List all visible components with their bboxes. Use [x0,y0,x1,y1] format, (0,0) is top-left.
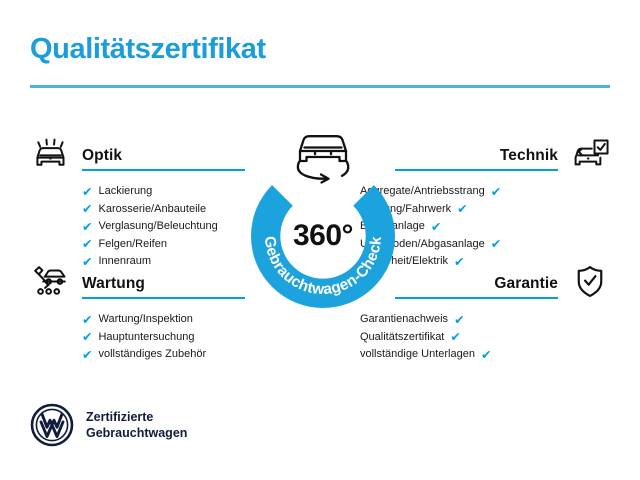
list-item: ✔Wartung/Inspektion [82,311,280,329]
car-rotation-icon [298,136,348,182]
car-checkbox-icon [570,136,610,172]
section-underline [395,297,558,299]
check-icon: ✔ [82,238,92,251]
section-title-wartung: Wartung [82,275,145,293]
list-item-label: Hauptuntersuchung [98,329,194,347]
page-title: Qualitätszertifikat [30,33,266,66]
list-item: ✔vollständige Unterlagen [360,346,558,364]
section-title-optik: Optik [82,147,122,165]
check-icon: ✔ [82,186,92,199]
check-icon: ✔ [82,203,92,216]
list-item-label: vollständige Unterlagen [360,346,475,364]
list-item: ✔Hauptuntersuchung [82,329,280,347]
section-underline [82,169,245,171]
list-item: ✔Qualitätszertifikat [360,329,558,347]
footer-line-2: Gebrauchtwagen [86,426,187,440]
shield-check-icon [570,264,610,300]
check-icon: ✔ [431,221,441,234]
gebrauchtwagen-check-badge: Gebrauchtwagen-Check 360° [243,118,403,313]
volkswagen-logo [30,403,74,447]
section-title-garantie: Garantie [494,275,558,293]
list-item-label: Karosserie/Anbauteile [98,201,206,219]
car-service-tool-icon [30,264,70,300]
check-icon: ✔ [457,203,467,216]
check-icon: ✔ [82,349,92,362]
list-item-label: Qualitätszertifikat [360,329,444,347]
section-underline [82,297,245,299]
check-icon: ✔ [454,256,464,269]
checklist-wartung: ✔Wartung/Inspektion ✔Hauptuntersuchung ✔… [30,311,280,364]
list-item: ✔vollständiges Zubehör [82,346,280,364]
car-shine-icon [30,136,70,172]
check-icon: ✔ [82,331,92,344]
check-icon: ✔ [450,331,460,344]
title-divider [30,85,610,88]
check-icon: ✔ [491,238,501,251]
check-icon: ✔ [82,221,92,234]
footer-brand: Zertifizierte Gebrauchtwagen [30,403,187,447]
check-icon: ✔ [491,186,501,199]
list-item-label: vollständiges Zubehör [98,346,206,364]
check-icon: ✔ [82,314,92,327]
list-item-label: Garantienachweis [360,311,448,329]
check-icon: ✔ [481,349,491,362]
footer-text: Zertifizierte Gebrauchtwagen [86,409,187,441]
section-underline [395,169,558,171]
checklist-garantie: ✔Garantienachweis ✔Qualitätszertifikat ✔… [360,311,610,364]
check-icon: ✔ [454,314,464,327]
list-item: ✔Garantienachweis [360,311,558,329]
list-item-label: Wartung/Inspektion [98,311,192,329]
list-item-label: Lackierung [98,183,152,201]
check-icon: ✔ [82,256,92,269]
qualitaetszertifikat-page: { "header": { "title": "Qualitätszertifi… [0,0,640,480]
section-title-technik: Technik [500,147,558,165]
list-item-label: Verglasung/Beleuchtung [98,218,217,236]
footer-line-1: Zertifizierte [86,410,153,424]
list-item-label: Felgen/Reifen [98,236,167,254]
